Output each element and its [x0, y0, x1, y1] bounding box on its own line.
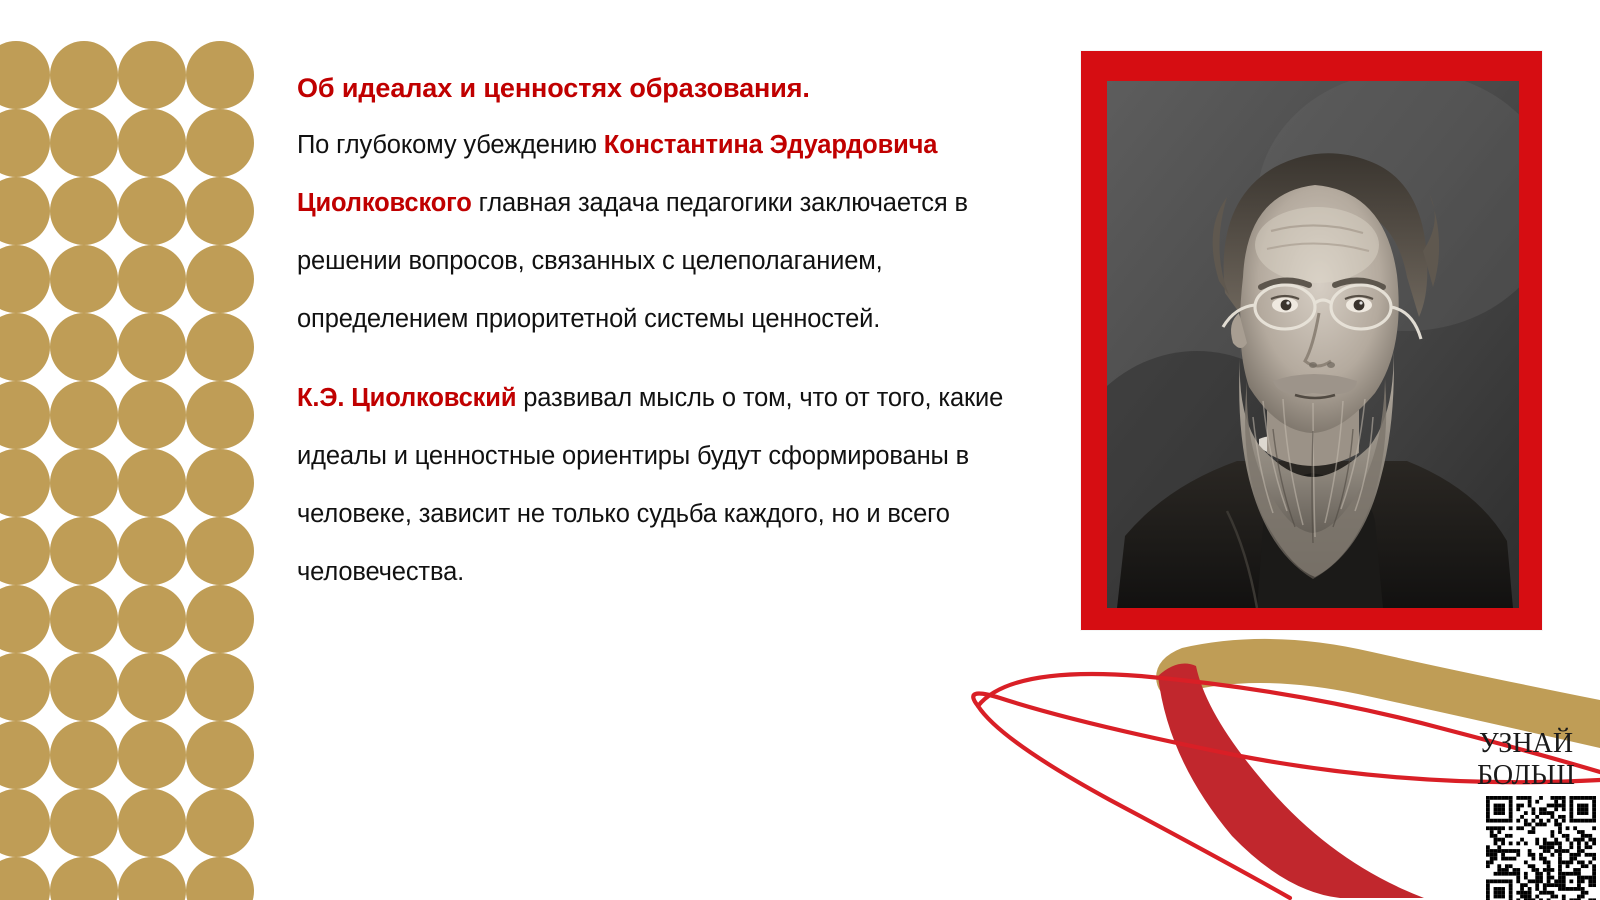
gold-dot — [0, 517, 50, 585]
gold-dot — [186, 857, 254, 900]
gold-dot — [0, 653, 50, 721]
qr-caption-line-2: БОЛЬШ — [1452, 760, 1600, 792]
gold-dot — [186, 653, 254, 721]
gold-dot — [118, 517, 186, 585]
portrait-frame — [1081, 51, 1542, 630]
gold-dot — [118, 109, 186, 177]
learn-more-qr-block[interactable]: УЗНАЙ БОЛЬШ — [1452, 728, 1600, 900]
gold-dot — [0, 721, 50, 789]
gold-dot — [186, 789, 254, 857]
gold-dot — [186, 517, 254, 585]
paragraph-2: К.Э. Циолковский развивал мысль о том, ч… — [297, 369, 1042, 601]
gold-dot — [118, 313, 186, 381]
gold-dot — [118, 585, 186, 653]
gold-dot — [0, 109, 50, 177]
gold-dot — [118, 789, 186, 857]
gold-dot — [186, 721, 254, 789]
gold-dot — [186, 109, 254, 177]
gold-dot — [118, 653, 186, 721]
gold-dot — [186, 177, 254, 245]
gold-dot — [186, 449, 254, 517]
gold-dot — [50, 313, 118, 381]
gold-dot — [118, 41, 186, 109]
gold-dot — [0, 585, 50, 653]
gold-dot — [118, 721, 186, 789]
gold-dot-pattern — [0, 0, 260, 900]
gold-dot — [118, 245, 186, 313]
gold-dot — [118, 449, 186, 517]
gold-dot — [50, 245, 118, 313]
gold-dot — [186, 313, 254, 381]
gold-dot — [50, 721, 118, 789]
gold-dot — [50, 653, 118, 721]
gold-dot — [50, 857, 118, 900]
text-content-column: Об идеалах и ценностях образования. По г… — [297, 70, 1042, 601]
gold-dot — [50, 177, 118, 245]
highlighted-name-run: К.Э. Циолковский — [297, 384, 516, 412]
gold-dot — [0, 381, 50, 449]
gold-dot — [0, 313, 50, 381]
portrait-photo — [1107, 81, 1519, 608]
gold-dot — [186, 41, 254, 109]
gold-dot — [186, 245, 254, 313]
gold-dot — [118, 177, 186, 245]
gold-dot — [0, 177, 50, 245]
gold-dot — [186, 381, 254, 449]
paragraph-1: По глубокому убеждению Константина Эдуар… — [297, 116, 1042, 348]
gold-dot — [50, 381, 118, 449]
gold-dot — [50, 449, 118, 517]
text-run-1: развивал мысль о том, что от того, какие… — [297, 384, 1003, 586]
gold-dot — [0, 245, 50, 313]
gold-dot — [186, 585, 254, 653]
red-swoosh-shape — [1158, 664, 1424, 898]
slide-canvas: Об идеалах и ценностях образования. По г… — [0, 0, 1600, 900]
gold-dot — [0, 449, 50, 517]
text-run-0: По глубокому убеждению — [297, 131, 604, 159]
gold-dot — [118, 381, 186, 449]
qr-caption-line-1: УЗНАЙ — [1452, 728, 1600, 760]
gold-dot — [0, 789, 50, 857]
gold-dot — [0, 41, 50, 109]
gold-dot — [50, 585, 118, 653]
gold-dot — [50, 41, 118, 109]
gold-dot — [0, 857, 50, 900]
qr-code[interactable] — [1486, 796, 1596, 900]
gold-dot — [118, 857, 186, 900]
gold-dot — [50, 789, 118, 857]
gold-dot — [50, 517, 118, 585]
page-title: Об идеалах и ценностях образования. — [297, 70, 1042, 106]
gold-dot — [50, 109, 118, 177]
